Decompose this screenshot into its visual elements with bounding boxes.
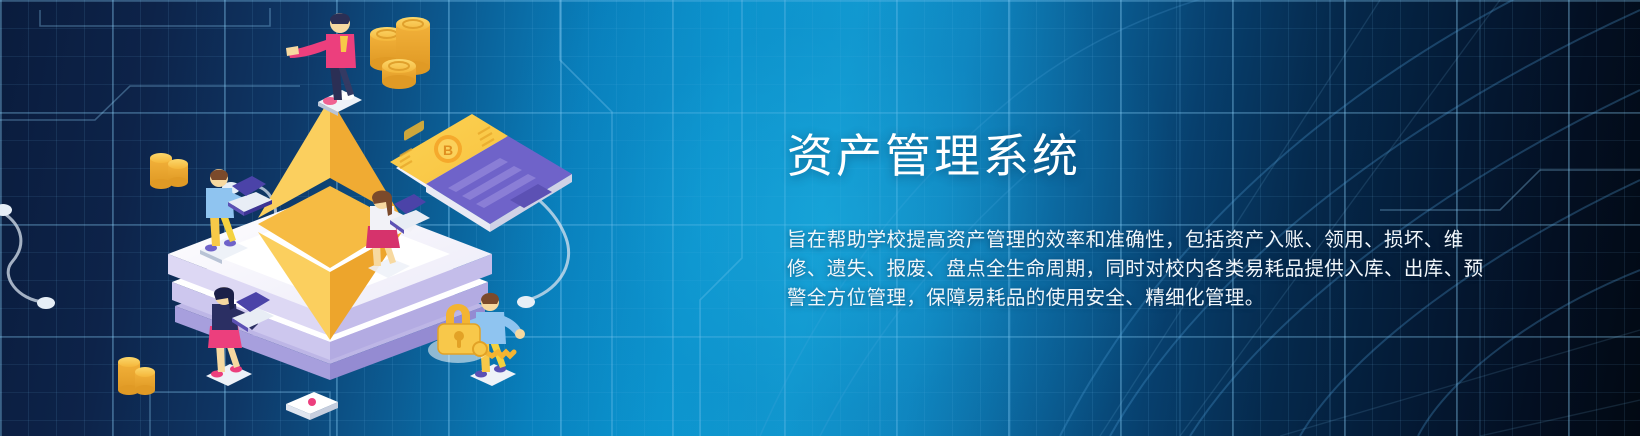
page-description: 旨在帮助学校提高资产管理的效率和准确性，包括资产入账、领用、损坏、维 修、遗失、… [787,226,1477,313]
isometric-illustration: B [0,0,640,436]
coin-stack-left [150,153,188,189]
description-line-2: 修、遗失、报废、盘点全生命周期，同时对校内各类易耗品提供入库、出库、预 [787,255,1477,284]
banner-text-block: 资产管理系统 旨在帮助学校提高资产管理的效率和准确性，包括资产入账、领用、损坏、… [787,0,1507,436]
coin-stack-top [370,17,430,89]
coin-stack-bottom [118,357,155,395]
card-icon [286,392,338,420]
person-skateboard-pink [286,13,362,116]
description-line-3: 警全方位管理，保障易耗品的使用安全、精细化管理。 [787,284,1477,313]
description-line-1: 旨在帮助学校提高资产管理的效率和准确性，包括资产入账、领用、损坏、维 [787,226,1477,255]
page-title: 资产管理系统 [787,129,1081,184]
svg-text:B: B [443,142,453,158]
asset-management-banner: B [0,0,1640,436]
